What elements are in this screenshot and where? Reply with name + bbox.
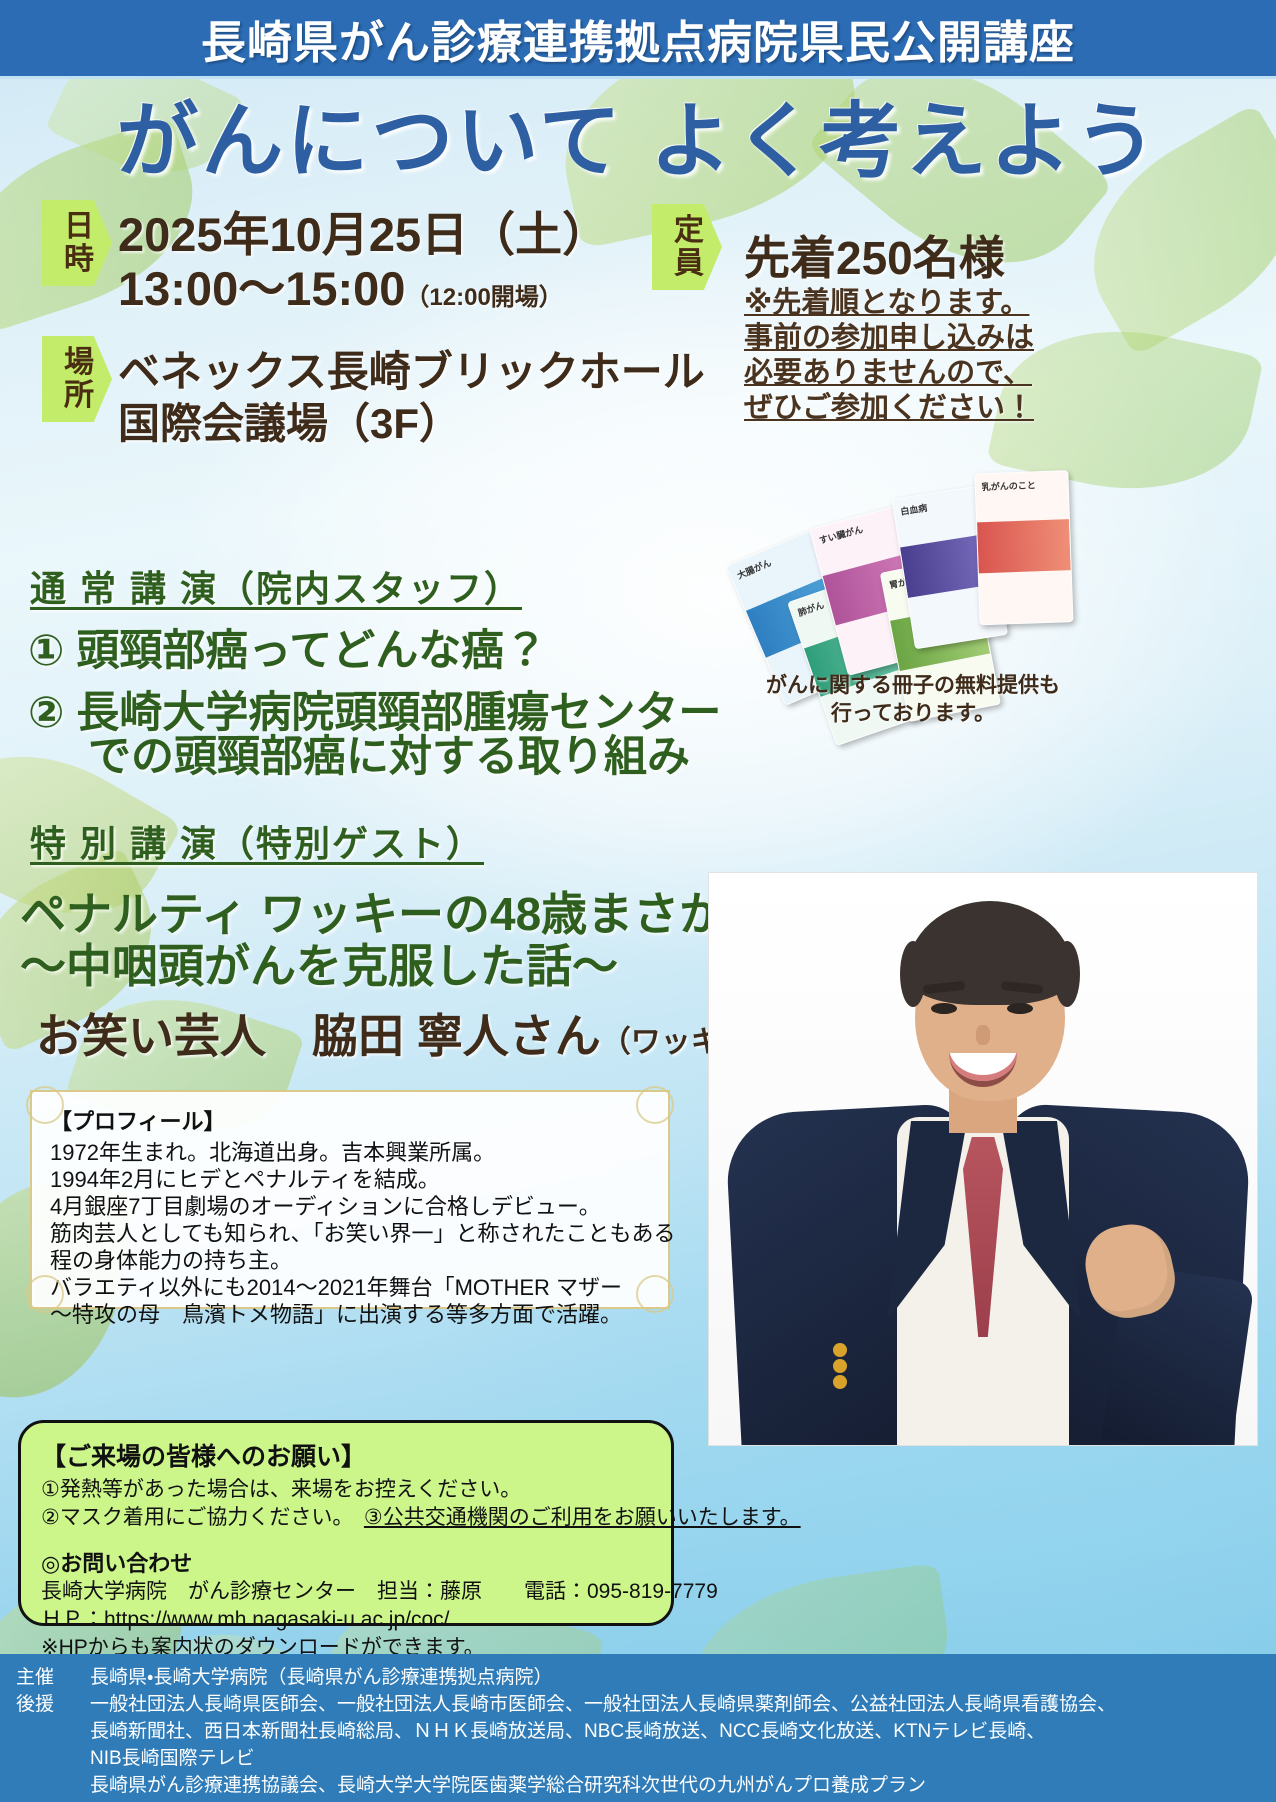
- profile-line: ～特攻の母 鳥濱トメ物語」に出演する等多方面で活躍。: [50, 1301, 650, 1328]
- special-lecture-heading: 特 別 講 演（特別ゲスト）: [30, 815, 484, 867]
- time-range: 13:00～15:00: [118, 262, 405, 315]
- capacity-tag-char-1: 定: [662, 214, 716, 247]
- profile-line: バラエティ以外にも2014～2021年舞台「MOTHER マザー: [50, 1274, 650, 1301]
- capacity-value: 先着250名様: [744, 222, 1005, 288]
- contact-url-line[interactable]: ＨＰ：https://www.mh.nagasaki-u.ac.jp/coc/: [41, 1606, 651, 1634]
- booklet-cover-label: 白血病: [899, 501, 928, 518]
- notice-line-2: ②マスク着用にご協力ください。 ③公共交通機関のご利用をお願いいたします。: [41, 1504, 651, 1532]
- portrait-eye-right: [1007, 1003, 1033, 1014]
- organizer-body: 長崎県・長崎大学病院（長崎県がん診療連携拠点病院）: [90, 1654, 1260, 1691]
- support-line: 長崎県がん診療連携協議会、長崎大学大学院医歯薬学総合研究科次世代の九州がんプロ養…: [90, 1772, 1260, 1799]
- footer-credits: 主催 長崎県・長崎大学病院（長崎県がん診療連携拠点病院） 後援 一般社団法人長崎…: [0, 1654, 1276, 1802]
- portrait-nose: [976, 1025, 990, 1045]
- guest-portrait-photo: [708, 872, 1258, 1446]
- time-value: 13:00～15:00（12:00開場）: [118, 250, 563, 319]
- corner-ornament-icon: [26, 1086, 64, 1124]
- booklet-cover-label: 乳がんのこと: [982, 478, 1036, 493]
- profile-heading: 【プロフィール】: [50, 1104, 650, 1136]
- organizer-text: 長崎県・長崎大学病院（長崎県がん診療連携拠点病院）: [90, 1664, 1260, 1691]
- booklet-cover-label: 肺がん: [796, 598, 826, 619]
- normal-lecture-item-2-line2: での頭頸部癌に対する取り組み: [88, 722, 690, 784]
- normal-lecture-heading: 通 常 講 演（院内スタッフ）: [30, 560, 522, 612]
- profile-line: 1994年2月にヒデとペナルティを結成。: [50, 1166, 650, 1193]
- booklet-caption-line: 行っております。: [748, 700, 1078, 728]
- guest-name: お笑い芸人 脇田 寧人さん（ワッキー）: [36, 1000, 781, 1066]
- capacity-tag-char-2: 員: [662, 247, 716, 280]
- banner-text: 長崎県がん診療連携拠点病院県民公開講座: [201, 6, 1075, 71]
- profile-line: 筋肉芸人としても知られ、「お笑い界一」と称されたこともある: [50, 1220, 650, 1247]
- booklet-caption-line: がんに関する冊子の無料提供も: [748, 672, 1078, 700]
- page-title-text: がんについて よく考えよう: [116, 74, 1159, 193]
- booklet-cover-label: すい臓がん: [818, 522, 865, 546]
- capacity-note-line: 必要ありませんので、: [744, 356, 1032, 391]
- booklet-cover-label: 大腸がん: [735, 556, 773, 582]
- profile-content: 【プロフィール】 1972年生まれ。北海道出身。吉本興業所属。 1994年2月に…: [32, 1092, 668, 1340]
- support-line: 一般社団法人長崎県医師会、一般社団法人長崎市医師会、一般社団法人長崎県薬剤師会、…: [90, 1691, 1260, 1718]
- place-tag-char-2: 所: [52, 379, 106, 412]
- capacity-tag: 定 員: [652, 204, 722, 290]
- support-line: 長崎新聞社、西日本新聞社長崎総局、ＮＨＫ長崎放送局、NBC長崎放送、NCC長崎文…: [90, 1718, 1260, 1745]
- portrait-eye-left: [931, 1003, 957, 1014]
- corner-ornament-icon: [26, 1275, 64, 1313]
- capacity-note-line: ぜひご参加ください！: [744, 391, 1034, 426]
- organizer-label: 主催: [16, 1654, 90, 1691]
- support-row: 後援 一般社団法人長崎県医師会、一般社団法人長崎市医師会、一般社団法人長崎県薬剤…: [0, 1691, 1276, 1799]
- contact-phone-line: 長崎大学病院 がん診療センター 担当：藤原 電話：095-819-7779: [41, 1578, 651, 1606]
- date-tag-char-2: 時: [52, 243, 106, 276]
- capacity-note-line: ※先着順となります。: [744, 286, 1029, 321]
- notice-line-2b: ③公共交通機関のご利用をお願いいたします。: [364, 1506, 801, 1529]
- portrait-jacket-buttons: [833, 1343, 847, 1357]
- profile-box: 【プロフィール】 1972年生まれ。北海道出身。吉本興業所属。 1994年2月に…: [30, 1090, 670, 1309]
- guest-name-text: お笑い芸人 脇田 寧人さん: [36, 1010, 601, 1062]
- booklet-band: [977, 519, 1071, 573]
- booklet-caption: がんに関する冊子の無料提供も 行っております。: [748, 672, 1078, 728]
- support-body: 一般社団法人長崎県医師会、一般社団法人長崎市医師会、一般社団法人長崎県薬剤師会、…: [90, 1691, 1260, 1799]
- booklet-cover: 乳がんのこと: [974, 470, 1073, 625]
- normal-lecture-item-1: ① 頭頸部癌ってどんな癌？: [28, 616, 547, 678]
- support-line: NIB長崎国際テレビ: [90, 1745, 1260, 1772]
- corner-ornament-icon: [636, 1275, 674, 1313]
- place-tag-char-1: 場: [52, 346, 106, 379]
- booklet-photo: 大腸がん 肺がん すい臓がん 胃がん 白血病 乳がんのこと: [733, 461, 1085, 700]
- special-lecture-title-line2: ～中咽頭がんを克服した話～: [20, 930, 618, 996]
- corner-ornament-icon: [636, 1086, 674, 1124]
- support-label: 後援: [16, 1691, 90, 1799]
- notice-line-2a: ②マスク着用にご協力ください。: [41, 1506, 364, 1529]
- capacity-note-line: 事前の参加申し込みは: [744, 321, 1034, 356]
- profile-line: 4月銀座7丁目劇場のオーディションに合格しデビュー。: [50, 1193, 650, 1220]
- notice-content: 【ご来場の皆様へのお願い】 ①発熱等があった場合は、来場をお控えください。 ②マ…: [21, 1423, 671, 1676]
- contact-heading: ◎お問い合わせ: [41, 1546, 651, 1578]
- venue-room: 国際会議場（3F）: [118, 390, 461, 451]
- visitor-notice-box: 【ご来場の皆様へのお願い】 ①発熱等があった場合は、来場をお控えください。 ②マ…: [18, 1420, 674, 1626]
- notice-line-1: ①発熱等があった場合は、来場をお控えください。: [41, 1476, 651, 1504]
- header-banner: 長崎県がん診療連携拠点病院県民公開講座: [0, 0, 1276, 79]
- poster-root: 長崎県がん診療連携拠点病院県民公開講座 がんについて よく考えよう 日 時 20…: [0, 0, 1276, 1802]
- organizer-row: 主催 長崎県・長崎大学病院（長崎県がん診療連携拠点病院）: [0, 1654, 1276, 1691]
- place-tag: 場 所: [42, 336, 112, 422]
- date-tag: 日 時: [42, 200, 112, 286]
- date-tag-char-1: 日: [52, 210, 106, 243]
- page-title: がんについて よく考えよう: [0, 78, 1276, 188]
- door-open-time: （12:00開場）: [405, 284, 562, 311]
- profile-line: 1972年生まれ。北海道出身。吉本興業所属。: [50, 1139, 650, 1166]
- notice-heading: 【ご来場の皆様へのお願い】: [41, 1437, 651, 1473]
- profile-line: 程の身体能力の持ち主。: [50, 1247, 650, 1274]
